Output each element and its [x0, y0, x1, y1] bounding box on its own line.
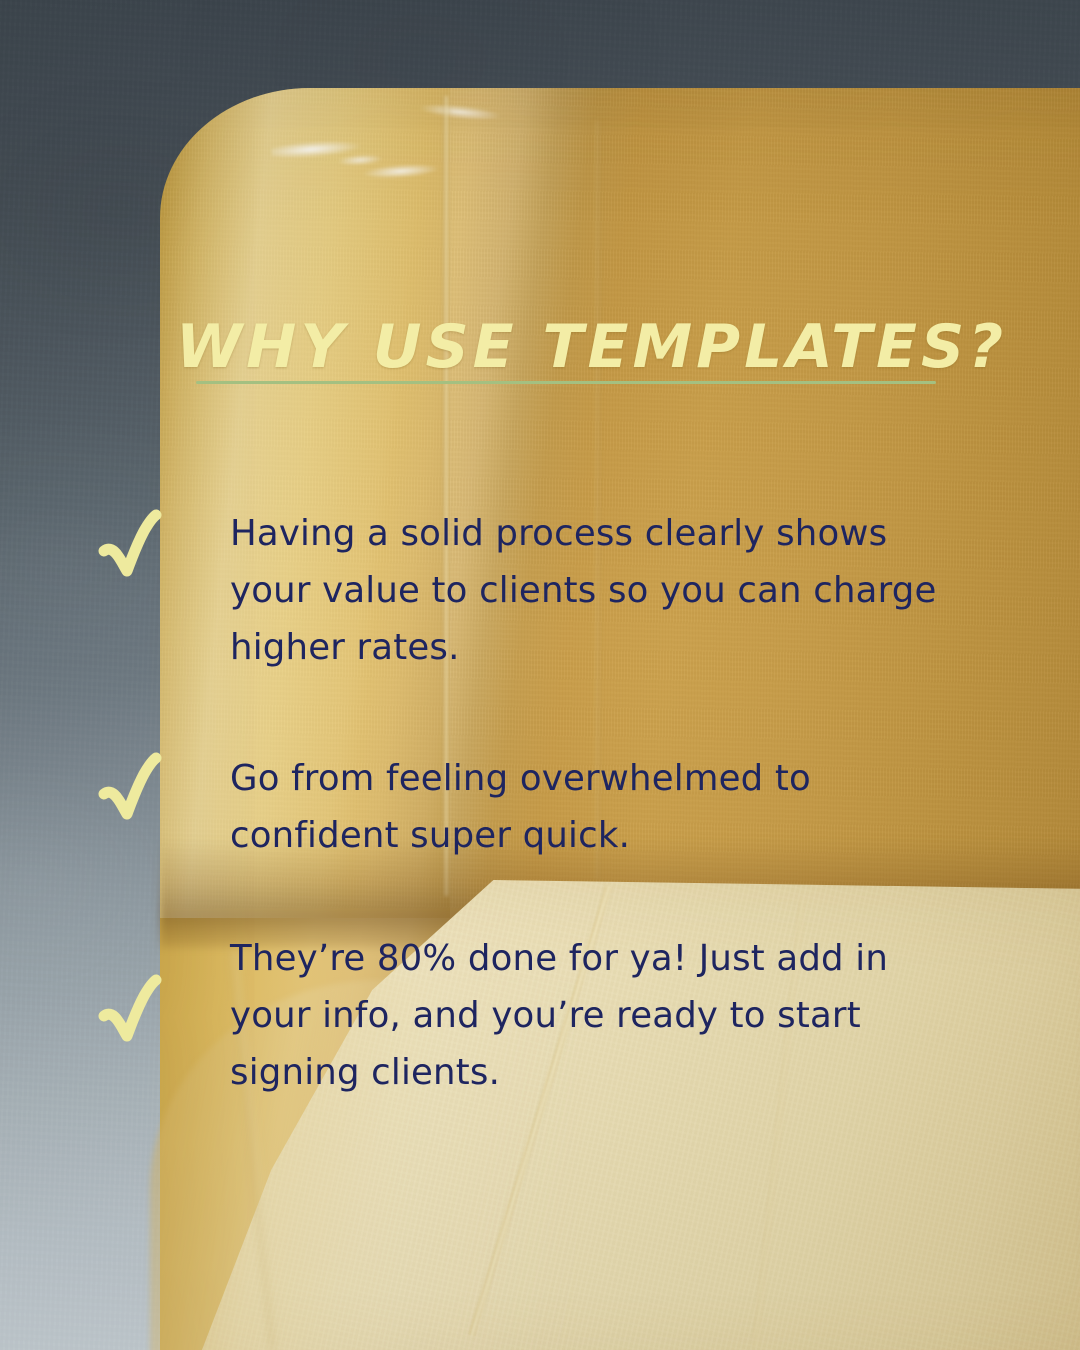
page-title: WHY USE TEMPLATES?: [176, 312, 1007, 382]
check-icon: [96, 972, 168, 1052]
social-post-canvas: WHY USE TEMPLATES? Having a solid proces…: [0, 0, 1080, 1350]
check-icon: [96, 507, 168, 587]
check-icon: [96, 750, 168, 830]
list-item-text: Having a solid process clearly shows you…: [230, 505, 970, 676]
list-item-text: They’re 80% done for ya! Just add in you…: [230, 930, 970, 1101]
text-overlay: WHY USE TEMPLATES? Having a solid proces…: [0, 0, 1080, 1350]
list-item-text: Go from feeling overwhelmed to confident…: [230, 750, 970, 864]
title-underline: [196, 381, 936, 384]
